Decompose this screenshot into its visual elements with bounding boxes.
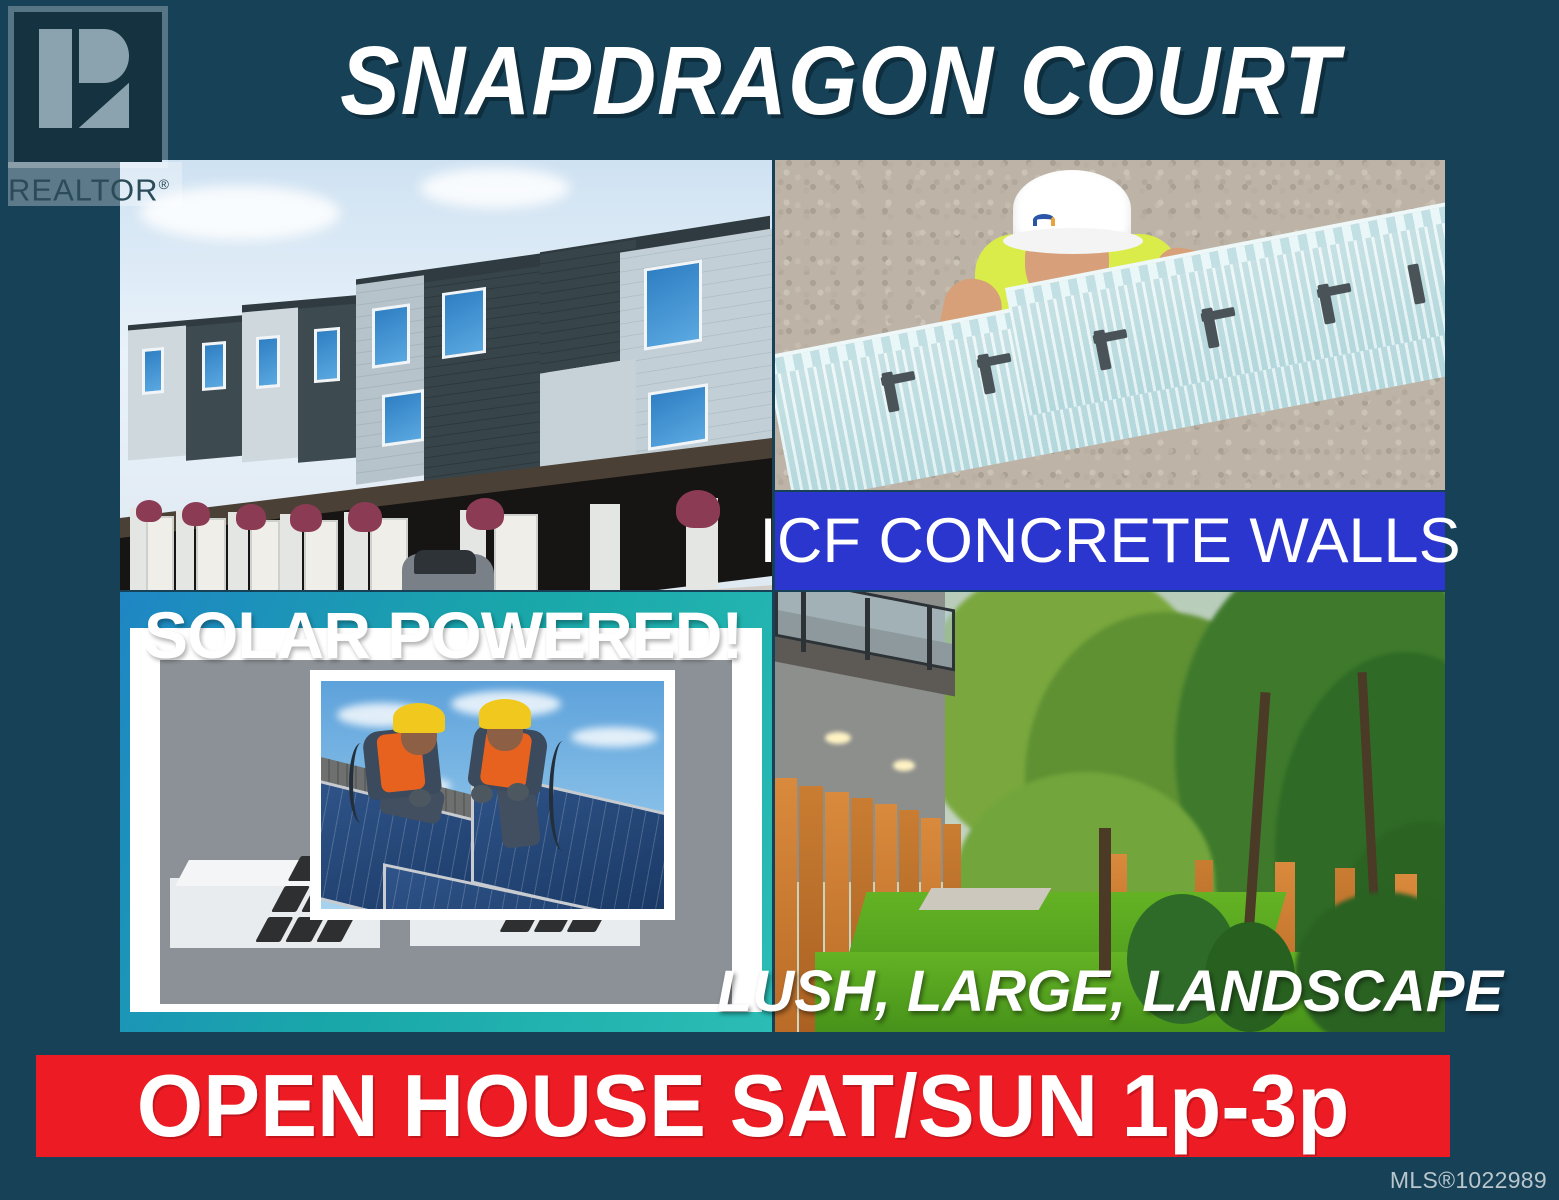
railing-post [865, 598, 870, 660]
window [256, 335, 280, 389]
open-house-banner: OPEN HOUSE SAT/SUN 1p-3p [36, 1055, 1450, 1157]
flower-basket [348, 502, 382, 532]
car-windshield [414, 550, 476, 574]
realtor-r-stem [39, 29, 72, 128]
hard-hat [393, 703, 445, 733]
window [644, 259, 702, 350]
railing-post [927, 606, 932, 670]
cloud [420, 168, 570, 208]
safety-cord [349, 743, 373, 823]
solar-caption-text: SOLAR POWERED! [144, 597, 742, 673]
hard-hat-brim [1003, 228, 1143, 254]
soffit-light [825, 732, 851, 744]
entry-door [250, 520, 280, 590]
safety-cord [549, 741, 577, 851]
solar-caption: SOLAR POWERED! [120, 592, 772, 678]
window [442, 287, 486, 359]
garden-path [919, 888, 1052, 910]
work-glove [409, 789, 431, 807]
registered-mark: ® [159, 176, 170, 192]
cloud [571, 727, 657, 747]
window [648, 383, 708, 451]
townhouse-exterior-photo [120, 160, 772, 590]
page-title: SNAPDRAGON COURT [297, 22, 1383, 140]
flyer-header: SNAPDRAGON COURT [0, 0, 1559, 160]
column [590, 504, 620, 590]
solar-installers-inset-photo [310, 670, 675, 920]
hard-hat [479, 699, 531, 729]
entry-door [146, 516, 174, 590]
icf-caption-text: ICF CONCRETE WALLS [759, 505, 1460, 577]
work-glove [471, 785, 493, 803]
flower-basket [136, 500, 162, 522]
realtor-r-bowl [79, 29, 129, 83]
flower-basket [182, 502, 210, 526]
flower-basket [466, 498, 504, 530]
solar-white-frame [130, 628, 762, 1012]
entry-door [196, 518, 226, 590]
realtor-r-icon [8, 6, 168, 168]
listing-flyer: SNAPDRAGON COURT REALTOR® [0, 0, 1559, 1200]
window [314, 327, 340, 383]
flower-basket [290, 504, 322, 532]
mls-number: MLS®1022989 [1390, 1167, 1547, 1194]
open-house-text: OPEN HOUSE SAT/SUN 1p-3p [137, 1055, 1350, 1157]
window [142, 347, 164, 395]
solar-grey-backdrop [160, 660, 732, 1004]
window [202, 341, 226, 391]
realtor-wordmark-text: REALTOR [8, 172, 159, 207]
flower-basket [676, 490, 720, 528]
realtor-logo-watermark: REALTOR® [0, 0, 185, 210]
realtor-r-leg [79, 83, 129, 128]
icf-construction-photo [775, 160, 1445, 490]
icf-caption-banner: ICF CONCRETE WALLS [775, 492, 1445, 590]
flower-basket [236, 504, 266, 530]
window [382, 389, 424, 447]
landscape-caption-text: LUSH, LARGE, LANDSCAPE [717, 958, 1503, 1025]
hard-hat-logo [1033, 214, 1055, 226]
entry-door [494, 514, 538, 590]
window [372, 303, 410, 368]
railing-post [801, 592, 806, 652]
work-glove [507, 783, 529, 801]
landscape-caption: LUSH, LARGE, LANDSCAPE [775, 950, 1445, 1032]
realtor-wordmark: REALTOR® [8, 162, 182, 206]
soffit-light [893, 760, 915, 771]
